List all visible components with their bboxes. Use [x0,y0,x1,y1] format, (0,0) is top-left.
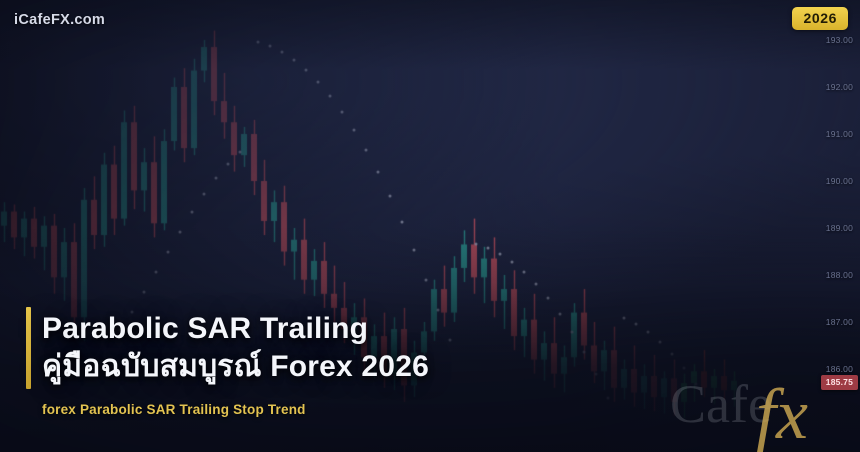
price-axis: 193.00192.00191.00190.00189.00188.00187.… [800,0,860,452]
title-line-2: คู่มือฉบับสมบูรณ์ Forex 2026 [42,348,682,386]
price-tick: 193.00 [826,35,853,45]
price-tick: 190.00 [826,176,853,186]
title-accent-bar [26,307,31,389]
year-badge: 2026 [792,7,848,30]
subtitle-keywords: forex Parabolic SAR Trailing Stop Trend [42,402,306,417]
title-line-1: Parabolic SAR Trailing [42,310,682,348]
price-tick: 192.00 [826,82,853,92]
forex-promo-banner: iCafeFX.com 2026 193.00192.00191.00190.0… [0,0,860,452]
price-tick: 189.00 [826,223,853,233]
last-price-badge: 185.75 [821,375,858,390]
price-tick: 188.00 [826,270,853,280]
site-brand-label: iCafeFX.com [14,12,105,28]
price-tick: 186.00 [826,364,853,374]
price-tick: 191.00 [826,129,853,139]
price-tick: 187.00 [826,317,853,327]
headline-block: Parabolic SAR Trailing คู่มือฉบับสมบูรณ์… [42,310,682,386]
